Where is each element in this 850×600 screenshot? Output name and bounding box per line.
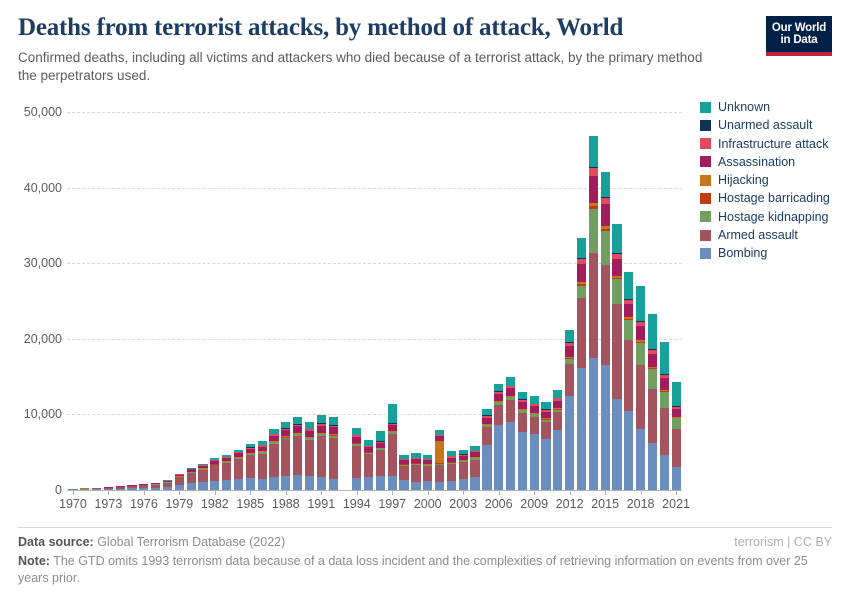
bar-segment: [423, 466, 432, 481]
bar-segment: [210, 465, 219, 481]
owid-logo[interactable]: Our World in Data: [766, 16, 832, 56]
stacked-bar[interactable]: [423, 455, 432, 490]
bar-column[interactable]: [611, 112, 623, 490]
x-axis-tick: [570, 490, 571, 495]
bar-segment: [411, 482, 420, 490]
stacked-bar[interactable]: [553, 390, 562, 490]
bar-column[interactable]: [138, 112, 150, 490]
bar-segment: [317, 477, 326, 490]
stacked-bar[interactable]: [541, 402, 550, 490]
bar-column[interactable]: [244, 112, 256, 490]
stacked-bar[interactable]: [672, 382, 681, 490]
x-axis-tick: [73, 490, 74, 495]
bar-segment: [352, 428, 361, 435]
bar-segment: [589, 253, 598, 359]
stacked-bar[interactable]: [660, 342, 669, 490]
bar-column[interactable]: [79, 112, 91, 490]
stacked-bar[interactable]: [470, 446, 479, 490]
stacked-bar[interactable]: [234, 450, 243, 490]
chart-page: Deaths from terrorist attacks, by method…: [0, 0, 850, 600]
bar-segment: [577, 368, 586, 490]
x-axis-tick-label: 1997: [378, 497, 406, 511]
bar-segment: [506, 377, 515, 385]
bar-column[interactable]: [516, 112, 528, 490]
stacked-bar[interactable]: [612, 224, 621, 490]
stacked-bar[interactable]: [459, 450, 468, 490]
bar-column[interactable]: [540, 112, 552, 490]
x-axis-tick-label: 2000: [414, 497, 442, 511]
bar-segment: [459, 462, 468, 479]
legend-swatch-icon: [700, 248, 711, 259]
bar-segment: [612, 259, 621, 276]
bar-segment: [435, 465, 444, 482]
stacked-bar[interactable]: [198, 464, 207, 490]
footer-note: Note: The GTD omits 1993 terrorism data …: [18, 553, 832, 587]
bar-column[interactable]: [363, 112, 375, 490]
bar-segment: [506, 422, 515, 490]
y-axis-labels: 010,00020,00030,00040,00050,000: [0, 96, 62, 506]
bar-segment: [399, 480, 408, 490]
bar-column[interactable]: [91, 112, 103, 490]
stacked-bar[interactable]: [399, 455, 408, 490]
stacked-bar[interactable]: [577, 238, 586, 490]
bar-column[interactable]: [315, 112, 327, 490]
x-axis-tick-label: 1973: [94, 497, 122, 511]
bar-segment: [494, 405, 503, 425]
bar-segment: [660, 408, 669, 455]
x-axis-tick-label: 2003: [449, 497, 477, 511]
x-axis-tick: [357, 490, 358, 495]
bar-column[interactable]: [493, 112, 505, 490]
bar-segment: [565, 346, 574, 357]
bar-segment: [530, 396, 539, 403]
bar-column[interactable]: [469, 112, 481, 490]
bar-segment: [577, 298, 586, 368]
bar-segment: [589, 358, 598, 490]
bar-segment: [648, 314, 657, 349]
x-axis-tick-label: 1970: [59, 497, 87, 511]
bar-column[interactable]: [256, 112, 268, 490]
y-axis-tick-label: 50,000: [24, 105, 62, 119]
stacked-bar[interactable]: [317, 415, 326, 490]
bar-segment: [518, 413, 527, 432]
bar-segment: [612, 279, 621, 304]
legend-item[interactable]: Unknown: [700, 100, 850, 114]
x-axis-tick: [250, 490, 251, 495]
bar-segment: [459, 479, 468, 490]
stacked-bar[interactable]: [258, 441, 267, 490]
bar-segment: [329, 438, 338, 479]
bar-segment: [317, 415, 326, 423]
stacked-bar[interactable]: [506, 377, 515, 490]
bar-segment: [198, 482, 207, 490]
bar-segment: [305, 440, 314, 476]
y-axis-tick-label: 10,000: [24, 407, 62, 421]
bar-segment: [258, 479, 267, 490]
footer-note-value: The GTD omits 1993 terrorism data becaus…: [18, 554, 808, 585]
bar-segment: [601, 204, 610, 226]
bar-column[interactable]: [339, 112, 351, 490]
bar-segment: [187, 483, 196, 490]
bar-segment: [660, 378, 669, 389]
bar-segment: [672, 409, 681, 417]
bar-segment: [329, 479, 338, 490]
bar-segment: [494, 384, 503, 392]
bar-segment: [601, 172, 610, 196]
legend-item[interactable]: Unarmed assault: [700, 118, 850, 132]
bar-segment: [672, 382, 681, 407]
bar-segment: [293, 417, 302, 424]
x-axis-tick: [499, 490, 500, 495]
stacked-bar[interactable]: [281, 422, 290, 490]
bar-column[interactable]: [670, 112, 682, 490]
bar-column[interactable]: [67, 112, 79, 490]
legend-item[interactable]: Hijacking: [700, 173, 850, 187]
legend-item-label: Hijacking: [718, 173, 769, 187]
bar-segment: [293, 475, 302, 490]
bar-column[interactable]: [173, 112, 185, 490]
stacked-bar[interactable]: [163, 480, 172, 490]
legend-swatch-icon: [700, 138, 711, 149]
bar-segment: [411, 465, 420, 482]
data-source: Data source: Global Terrorism Database (…: [18, 535, 285, 549]
bar-series-container: [67, 112, 682, 490]
bar-segment: [364, 454, 373, 477]
x-axis-tick-label: 1979: [165, 497, 193, 511]
bar-column[interactable]: [635, 112, 647, 490]
x-axis-tick-label: 1991: [307, 497, 335, 511]
y-axis-tick-label: 40,000: [24, 181, 62, 195]
bar-segment: [305, 476, 314, 490]
bar-column[interactable]: [292, 112, 304, 490]
bar-segment: [636, 429, 645, 490]
bar-segment: [565, 364, 574, 397]
bar-column[interactable]: [528, 112, 540, 490]
x-axis: 1970197319761979198219851988199119941997…: [67, 490, 682, 520]
bar-column[interactable]: [162, 112, 174, 490]
legend-item-label: Unarmed assault: [718, 118, 813, 132]
bar-segment: [577, 264, 586, 282]
legend-swatch-icon: [700, 156, 711, 167]
bar-column[interactable]: [552, 112, 564, 490]
y-axis-tick-label: 20,000: [24, 332, 62, 346]
bar-segment: [388, 434, 397, 476]
bar-segment: [589, 168, 598, 176]
stacked-bar[interactable]: [648, 314, 657, 490]
bar-column[interactable]: [481, 112, 493, 490]
bar-segment: [317, 436, 326, 477]
stacked-bar[interactable]: [565, 330, 574, 490]
legend-item-label: Hostage barricading: [718, 191, 830, 205]
bar-segment: [648, 354, 657, 367]
bar-segment: [447, 481, 456, 490]
bar-segment: [624, 272, 633, 299]
x-axis-tick: [215, 490, 216, 495]
data-source-label: Data source:: [18, 535, 94, 549]
stacked-bar[interactable]: [530, 396, 539, 490]
stacked-bar[interactable]: [376, 431, 385, 490]
bar-segment: [672, 418, 681, 429]
legend-swatch-icon: [700, 102, 711, 113]
bar-column[interactable]: [564, 112, 576, 490]
bar-segment: [352, 478, 361, 490]
footer-divider: [18, 527, 832, 528]
legend-swatch-icon: [700, 193, 711, 204]
bar-segment: [553, 390, 562, 398]
bar-column[interactable]: [126, 112, 138, 490]
x-axis-tick-label: 1982: [201, 497, 229, 511]
plot-area: [67, 112, 682, 490]
bar-segment: [624, 340, 633, 412]
stacked-bar[interactable]: [329, 417, 338, 490]
bar-column[interactable]: [102, 112, 114, 490]
bar-segment: [246, 455, 255, 478]
bar-column[interactable]: [446, 112, 458, 490]
bar-segment: [364, 477, 373, 490]
legend-item-label: Hostage kidnapping: [718, 210, 829, 224]
stacked-bar[interactable]: [388, 404, 397, 490]
bar-segment: [601, 365, 610, 490]
stacked-bar[interactable]: [624, 272, 633, 490]
x-axis-tick-label: 1988: [272, 497, 300, 511]
bar-segment: [187, 473, 196, 484]
data-source-value: Global Terrorism Database (2022): [94, 535, 286, 549]
x-axis-tick: [605, 490, 606, 495]
stacked-bar[interactable]: [482, 409, 491, 490]
bar-segment: [589, 176, 598, 203]
bar-column[interactable]: [422, 112, 434, 490]
bar-segment: [624, 304, 633, 318]
stacked-bar[interactable]: [305, 422, 314, 490]
stacked-bar[interactable]: [175, 474, 184, 490]
x-axis-tick-label: 2006: [485, 497, 513, 511]
bar-column[interactable]: [351, 112, 363, 490]
legend-swatch-icon: [700, 211, 711, 222]
stacked-bar[interactable]: [151, 483, 160, 490]
bar-segment: [482, 409, 491, 416]
bar-column[interactable]: [268, 112, 280, 490]
chart-legend: UnknownUnarmed assaultInfrastructure att…: [700, 100, 850, 265]
bar-column[interactable]: [209, 112, 221, 490]
bar-segment: [447, 464, 456, 481]
bar-segment: [317, 426, 326, 433]
bar-column[interactable]: [280, 112, 292, 490]
x-axis-tick-label: 1994: [343, 497, 371, 511]
legend-item[interactable]: Bombing: [700, 246, 850, 260]
bar-segment: [376, 476, 385, 490]
legend-swatch-icon: [700, 175, 711, 186]
bar-segment: [482, 427, 491, 445]
bar-segment: [269, 444, 278, 477]
bar-column[interactable]: [576, 112, 588, 490]
bar-segment: [352, 446, 361, 479]
legend-item-label: Bombing: [718, 246, 767, 260]
bar-segment: [482, 445, 491, 490]
bar-segment: [624, 411, 633, 490]
bar-segment: [329, 417, 338, 425]
bar-segment: [601, 231, 610, 265]
chart-subtitle: Confirmed deaths, including all victims …: [18, 49, 718, 85]
legend-item[interactable]: Assassination: [700, 155, 850, 169]
bar-column[interactable]: [304, 112, 316, 490]
bar-segment: [660, 392, 669, 409]
stacked-bar[interactable]: [352, 428, 361, 490]
x-axis-tick: [463, 490, 464, 495]
stacked-bar[interactable]: [518, 392, 527, 490]
bar-segment: [648, 389, 657, 443]
bar-column[interactable]: [410, 112, 422, 490]
bar-column[interactable]: [599, 112, 611, 490]
chart-header: Deaths from terrorist attacks, by method…: [18, 14, 832, 85]
bar-column[interactable]: [150, 112, 162, 490]
bar-column[interactable]: [221, 112, 233, 490]
bar-column[interactable]: [197, 112, 209, 490]
bar-segment: [175, 477, 184, 485]
bar-segment: [494, 425, 503, 490]
stacked-bar[interactable]: [246, 444, 255, 490]
stacked-bar[interactable]: [411, 453, 420, 490]
page-title: Deaths from terrorist attacks, by method…: [18, 14, 832, 42]
stacked-bar[interactable]: [601, 172, 610, 490]
bar-segment: [376, 431, 385, 442]
bar-segment: [222, 480, 231, 490]
bar-segment: [541, 412, 550, 419]
bar-column[interactable]: [114, 112, 126, 490]
footer-note-label: Note:: [18, 554, 50, 568]
bar-segment: [222, 463, 231, 480]
bar-segment: [530, 406, 539, 413]
legend-item[interactable]: Hostage barricading: [700, 191, 850, 205]
bar-segment: [636, 286, 645, 322]
x-axis-tick: [534, 490, 535, 495]
x-axis-tick: [676, 490, 677, 495]
bar-segment: [612, 399, 621, 490]
bar-segment: [541, 439, 550, 490]
bar-segment: [660, 455, 669, 490]
x-axis-tick: [286, 490, 287, 495]
bar-column[interactable]: [658, 112, 670, 490]
stacked-bar[interactable]: [447, 451, 456, 490]
bar-segment: [541, 402, 550, 409]
x-axis-tick: [392, 490, 393, 495]
bar-segment: [258, 454, 267, 479]
bar-segment: [565, 330, 574, 342]
x-axis-tick-label: 1985: [236, 497, 264, 511]
legend-item-label: Infrastructure attack: [718, 137, 828, 151]
stacked-bar[interactable]: [636, 286, 645, 490]
footer-license[interactable]: terrorism | CC BY: [734, 535, 832, 549]
bar-segment: [518, 432, 527, 490]
bar-segment: [234, 459, 243, 479]
stacked-bar[interactable]: [187, 468, 196, 490]
stacked-bar[interactable]: [435, 430, 444, 490]
bar-segment: [672, 467, 681, 490]
bar-segment: [376, 450, 385, 476]
bar-segment: [518, 392, 527, 400]
stacked-bar[interactable]: [494, 384, 503, 490]
legend-swatch-icon: [700, 120, 711, 131]
bar-segment: [660, 342, 669, 374]
bar-segment: [541, 422, 550, 439]
bar-column[interactable]: [505, 112, 517, 490]
bar-segment: [210, 481, 219, 490]
bar-segment: [518, 402, 527, 409]
owid-logo-line2: in Data: [781, 34, 818, 46]
bar-column[interactable]: [327, 112, 339, 490]
bar-segment: [281, 476, 290, 490]
bar-column[interactable]: [386, 112, 398, 490]
owid-logo-line1: Our World: [772, 22, 826, 34]
legend-swatch-icon: [700, 230, 711, 241]
bar-column[interactable]: [587, 112, 599, 490]
bar-segment: [530, 417, 539, 434]
bar-segment: [293, 436, 302, 475]
bar-segment: [399, 466, 408, 480]
bar-segment: [589, 136, 598, 166]
stacked-bar[interactable]: [293, 417, 302, 490]
stacked-bar[interactable]: [589, 136, 598, 490]
x-axis-tick-label: 2009: [520, 497, 548, 511]
bar-segment: [506, 400, 515, 422]
bar-segment: [234, 479, 243, 490]
bar-column[interactable]: [185, 112, 197, 490]
bar-segment: [423, 481, 432, 490]
bar-segment: [553, 401, 562, 409]
bar-segment: [648, 443, 657, 490]
x-axis-tick: [321, 490, 322, 495]
bar-column[interactable]: [457, 112, 469, 490]
x-axis-tick: [641, 490, 642, 495]
bar-segment: [612, 224, 621, 253]
stacked-bar[interactable]: [210, 458, 219, 490]
bar-segment: [530, 434, 539, 490]
legend-item-label: Assassination: [718, 155, 795, 169]
bar-column[interactable]: [233, 112, 245, 490]
bar-column[interactable]: [398, 112, 410, 490]
bar-segment: [612, 304, 621, 399]
legend-item[interactable]: Hostage kidnapping: [700, 210, 850, 224]
stacked-bar[interactable]: [269, 429, 278, 490]
stacked-bar[interactable]: [364, 440, 373, 490]
legend-item[interactable]: Infrastructure attack: [700, 137, 850, 151]
bar-segment: [577, 286, 586, 298]
stacked-bar[interactable]: [222, 455, 231, 490]
bar-column[interactable]: [623, 112, 635, 490]
bar-segment: [470, 477, 479, 490]
bar-segment: [636, 365, 645, 429]
bar-segment: [553, 430, 562, 490]
x-axis-tick-label: 2015: [591, 497, 619, 511]
bar-segment: [589, 209, 598, 253]
legend-item[interactable]: Armed assault: [700, 228, 850, 242]
bar-segment: [198, 470, 207, 483]
y-axis-tick-label: 30,000: [24, 256, 62, 270]
bar-segment: [565, 396, 574, 490]
bar-column[interactable]: [375, 112, 387, 490]
x-axis-tick-label: 2018: [627, 497, 655, 511]
bar-segment: [435, 441, 444, 464]
x-axis-tick: [428, 490, 429, 495]
x-axis-tick-label: 1976: [130, 497, 158, 511]
bar-column[interactable]: [647, 112, 659, 490]
x-axis-tick: [108, 490, 109, 495]
bar-segment: [648, 369, 657, 389]
bar-column[interactable]: [434, 112, 446, 490]
bar-segment: [506, 388, 515, 396]
bar-segment: [470, 460, 479, 477]
bar-segment: [553, 412, 562, 430]
bar-segment: [636, 326, 645, 340]
